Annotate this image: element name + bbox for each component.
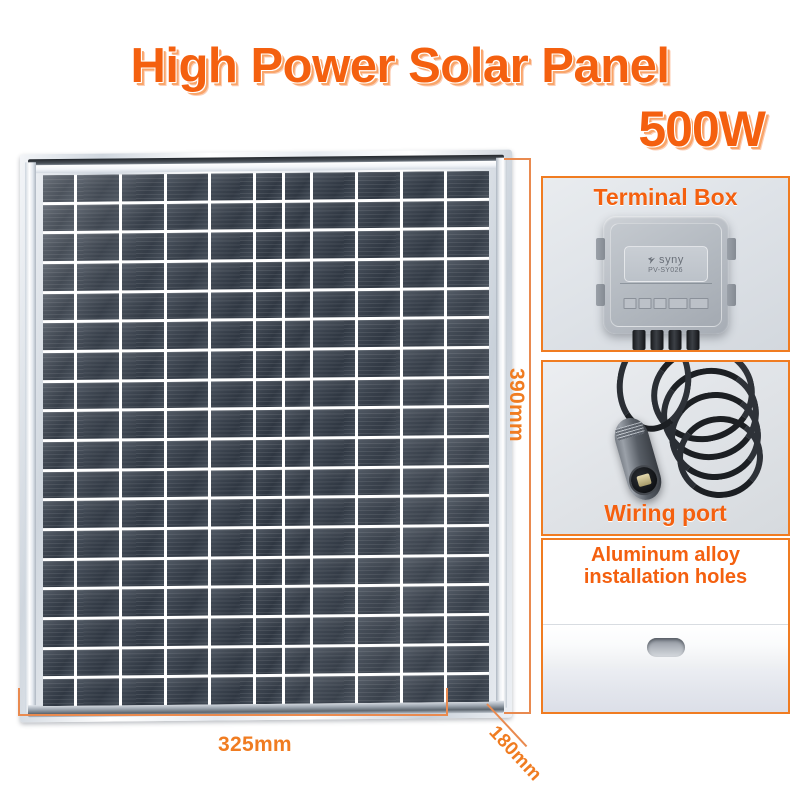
solar-cell bbox=[211, 410, 253, 437]
solar-cell bbox=[43, 382, 74, 409]
solar-cell bbox=[77, 619, 119, 646]
solar-cell bbox=[256, 677, 282, 704]
solar-cell bbox=[403, 290, 445, 317]
dim-height-label: 390mm bbox=[504, 368, 528, 442]
solar-cell bbox=[403, 201, 445, 228]
solar-cell bbox=[43, 471, 74, 498]
detail-card-wiring-port: Wiring port bbox=[541, 360, 790, 536]
solar-cell bbox=[167, 530, 209, 557]
wiring-port-title: Wiring port bbox=[543, 500, 788, 527]
solar-cell bbox=[211, 618, 253, 645]
cert-recycle-icon bbox=[623, 298, 636, 309]
solar-cell bbox=[167, 441, 209, 468]
solar-cell bbox=[358, 379, 400, 406]
solar-cell bbox=[358, 261, 400, 288]
solar-cell bbox=[43, 175, 74, 202]
solar-panel-image bbox=[14, 148, 519, 728]
solar-cell bbox=[403, 320, 445, 347]
dim-width-tick-right bbox=[446, 688, 448, 715]
mount-tab-left-top bbox=[596, 238, 605, 260]
solar-cell bbox=[403, 676, 445, 703]
solar-cell bbox=[285, 232, 311, 259]
solar-cell bbox=[167, 589, 209, 616]
alloy-title-line1: Aluminum alloy bbox=[543, 545, 788, 567]
solar-cell bbox=[447, 290, 489, 317]
solar-cell bbox=[122, 322, 164, 349]
solar-cell bbox=[358, 290, 400, 317]
solar-cell bbox=[358, 617, 400, 644]
solar-cell bbox=[167, 559, 209, 586]
solar-cell bbox=[313, 172, 355, 199]
solar-cell bbox=[447, 616, 489, 643]
solar-cell bbox=[43, 264, 74, 291]
solar-cell bbox=[122, 263, 164, 290]
solar-cell bbox=[77, 263, 119, 290]
solar-cell bbox=[211, 292, 253, 319]
dim-height-tick-top bbox=[504, 158, 530, 160]
solar-cell bbox=[447, 527, 489, 554]
solar-cell bbox=[43, 560, 74, 587]
solar-cell bbox=[358, 350, 400, 377]
solar-cell bbox=[122, 471, 164, 498]
solar-cell bbox=[77, 530, 119, 557]
solar-cell bbox=[122, 589, 164, 616]
solar-cell bbox=[285, 321, 311, 348]
solar-cell bbox=[167, 678, 209, 705]
dim-width-bracket-bottom bbox=[18, 714, 448, 716]
certification-marks bbox=[623, 298, 708, 309]
terminal-box-body: syny PV-SY026 bbox=[603, 216, 729, 334]
solar-cell bbox=[77, 412, 119, 439]
solar-cell bbox=[447, 408, 489, 435]
mount-tab-right-top bbox=[727, 238, 736, 260]
solar-cell bbox=[122, 678, 164, 705]
solar-cell bbox=[403, 557, 445, 584]
solar-cell bbox=[403, 646, 445, 673]
solar-cell bbox=[211, 470, 253, 497]
solar-cell bbox=[77, 293, 119, 320]
solar-cell bbox=[313, 350, 355, 377]
mount-tab-right-bottom bbox=[727, 284, 736, 306]
solar-cell bbox=[43, 679, 74, 706]
solar-cell bbox=[256, 618, 282, 645]
solar-cell bbox=[403, 409, 445, 436]
panel-aluminum-frame bbox=[20, 150, 512, 723]
solar-cell bbox=[256, 173, 282, 200]
solar-cell bbox=[285, 291, 311, 318]
solar-cell bbox=[447, 379, 489, 406]
solar-cell bbox=[403, 231, 445, 258]
solar-cell bbox=[167, 322, 209, 349]
solar-cell bbox=[447, 438, 489, 465]
solar-cell bbox=[313, 676, 355, 703]
solar-cell bbox=[313, 528, 355, 555]
mount-tab-left-bottom bbox=[596, 284, 605, 306]
solar-cell bbox=[43, 204, 74, 231]
solar-cell bbox=[285, 410, 311, 437]
solar-cell bbox=[211, 588, 253, 615]
solar-cell bbox=[358, 172, 400, 199]
solar-cell bbox=[43, 620, 74, 647]
connector-pin bbox=[636, 473, 652, 487]
solar-cell bbox=[122, 352, 164, 379]
solar-cell bbox=[77, 441, 119, 468]
syny-logo-icon bbox=[647, 256, 656, 265]
solar-cell bbox=[447, 201, 489, 228]
solar-cell bbox=[77, 352, 119, 379]
solar-cell bbox=[43, 234, 74, 261]
solar-cell bbox=[313, 202, 355, 229]
detail-card-aluminum-alloy: Aluminum alloy installation holes bbox=[541, 538, 790, 714]
solar-cell bbox=[256, 470, 282, 497]
cert-warning-icon bbox=[638, 298, 651, 309]
solar-cell bbox=[447, 468, 489, 495]
cable-stub bbox=[632, 330, 645, 350]
dim-height-bracket-right bbox=[529, 158, 531, 714]
solar-cell bbox=[447, 260, 489, 287]
solar-cell bbox=[167, 381, 209, 408]
solar-cell bbox=[256, 351, 282, 378]
solar-cell bbox=[256, 499, 282, 526]
solar-cell bbox=[77, 501, 119, 528]
solar-cell bbox=[256, 410, 282, 437]
solar-cell bbox=[256, 588, 282, 615]
solar-cell bbox=[211, 648, 253, 675]
solar-cell bbox=[167, 174, 209, 201]
brand-row: syny bbox=[647, 254, 684, 266]
solar-cell bbox=[313, 617, 355, 644]
solar-cell bbox=[358, 498, 400, 525]
terminal-box-brand: syny bbox=[659, 254, 684, 266]
solar-cell bbox=[358, 201, 400, 228]
solar-cell bbox=[358, 528, 400, 555]
terminal-box-model: PV-SY026 bbox=[648, 267, 683, 274]
solar-cell bbox=[77, 679, 119, 706]
solar-cell bbox=[77, 649, 119, 676]
solar-cell bbox=[256, 648, 282, 675]
cable-stub bbox=[668, 330, 681, 350]
solar-cell bbox=[358, 439, 400, 466]
solar-cell bbox=[403, 616, 445, 643]
solar-cell bbox=[285, 558, 311, 585]
solar-cell bbox=[122, 411, 164, 438]
solar-cell bbox=[77, 382, 119, 409]
alloy-title-line2: installation holes bbox=[543, 567, 788, 589]
solar-cell bbox=[447, 497, 489, 524]
solar-cell bbox=[285, 351, 311, 378]
solar-cell bbox=[43, 412, 74, 439]
solar-cell bbox=[43, 531, 74, 558]
dim-width-tick-left bbox=[18, 688, 20, 715]
solar-cell bbox=[447, 319, 489, 346]
solar-cell bbox=[285, 440, 311, 467]
solar-cell bbox=[167, 500, 209, 527]
solar-cell bbox=[122, 382, 164, 409]
solar-cell bbox=[43, 353, 74, 380]
connector-knurling bbox=[615, 421, 645, 440]
solar-cell bbox=[122, 174, 164, 201]
solar-cell bbox=[313, 291, 355, 318]
solar-cell bbox=[77, 471, 119, 498]
solar-cell bbox=[285, 469, 311, 496]
solar-cell bbox=[403, 349, 445, 376]
solar-cell bbox=[122, 233, 164, 260]
solar-cell bbox=[447, 646, 489, 673]
solar-cell bbox=[313, 647, 355, 674]
solar-cell bbox=[167, 411, 209, 438]
solar-cell bbox=[43, 590, 74, 617]
dim-width-label: 325mm bbox=[218, 733, 292, 757]
solar-cell bbox=[211, 262, 253, 289]
cert-voltage-icon bbox=[689, 298, 708, 309]
solar-cell bbox=[313, 587, 355, 614]
solar-cell bbox=[122, 649, 164, 676]
solar-cell bbox=[403, 260, 445, 287]
solar-cell bbox=[211, 203, 253, 230]
solar-cell bbox=[447, 557, 489, 584]
solar-cell bbox=[211, 381, 253, 408]
solar-cell bbox=[403, 587, 445, 614]
wattage-badge: 500W bbox=[638, 100, 765, 158]
solar-cell bbox=[211, 499, 253, 526]
solar-cell bbox=[403, 527, 445, 554]
solar-cell bbox=[43, 501, 74, 528]
solar-cell bbox=[167, 648, 209, 675]
solar-cell bbox=[167, 619, 209, 646]
terminal-box-lid: syny PV-SY026 bbox=[610, 223, 722, 327]
solar-cell bbox=[447, 586, 489, 613]
solar-cell bbox=[285, 677, 311, 704]
solar-cell bbox=[313, 558, 355, 585]
solar-cell bbox=[313, 261, 355, 288]
installation-hole bbox=[647, 638, 685, 657]
connector-face bbox=[626, 462, 663, 499]
cert-manual-icon bbox=[653, 298, 666, 309]
solar-cell bbox=[256, 321, 282, 348]
solar-cell bbox=[447, 230, 489, 257]
solar-cell bbox=[285, 173, 311, 200]
solar-cell bbox=[285, 618, 311, 645]
solar-cell bbox=[403, 468, 445, 495]
solar-cell bbox=[358, 468, 400, 495]
solar-cell bbox=[211, 351, 253, 378]
solar-cell bbox=[358, 646, 400, 673]
solar-cell bbox=[285, 202, 311, 229]
terminal-box-title: Terminal Box bbox=[543, 178, 788, 211]
solar-cell bbox=[285, 499, 311, 526]
solar-cell bbox=[77, 234, 119, 261]
solar-cell bbox=[256, 292, 282, 319]
solar-cell bbox=[358, 231, 400, 258]
solar-cell bbox=[211, 440, 253, 467]
solar-cell bbox=[167, 263, 209, 290]
solar-cell bbox=[285, 262, 311, 289]
solar-cell bbox=[447, 675, 489, 702]
terminal-box-cable-stubs bbox=[632, 330, 699, 350]
solar-cell bbox=[77, 204, 119, 231]
solar-cell bbox=[77, 590, 119, 617]
solar-cell bbox=[122, 560, 164, 587]
solar-cell bbox=[447, 171, 489, 198]
cable-stub bbox=[686, 330, 699, 350]
solar-cell bbox=[122, 293, 164, 320]
solar-cell bbox=[358, 587, 400, 614]
aluminum-alloy-title: Aluminum alloy installation holes bbox=[543, 540, 788, 588]
solar-cell bbox=[211, 559, 253, 586]
solar-cell bbox=[43, 293, 74, 320]
solar-cell bbox=[167, 233, 209, 260]
solar-cell bbox=[167, 352, 209, 379]
solar-cell bbox=[256, 381, 282, 408]
solar-cell bbox=[358, 409, 400, 436]
solar-cell bbox=[77, 174, 119, 201]
frame-left-edge bbox=[25, 162, 36, 712]
solar-cell bbox=[256, 232, 282, 259]
solar-cell bbox=[43, 323, 74, 350]
solar-cell bbox=[313, 439, 355, 466]
solar-cell bbox=[122, 530, 164, 557]
dim-height-tick-bottom bbox=[504, 712, 530, 714]
terminal-box-label: syny PV-SY026 bbox=[624, 246, 708, 282]
solar-cell bbox=[313, 231, 355, 258]
solar-cell bbox=[167, 292, 209, 319]
detail-card-terminal-box: Terminal Box syny PV-SY026 bbox=[541, 176, 790, 352]
solar-cell bbox=[211, 677, 253, 704]
cert-rating-icon bbox=[668, 298, 687, 309]
solar-cell bbox=[403, 171, 445, 198]
photovoltaic-cell-array bbox=[43, 171, 489, 706]
solar-cell bbox=[256, 203, 282, 230]
solar-cell bbox=[43, 442, 74, 469]
solar-cell bbox=[313, 380, 355, 407]
solar-cell bbox=[285, 380, 311, 407]
solar-cell bbox=[313, 409, 355, 436]
solar-cell bbox=[122, 441, 164, 468]
solar-cell bbox=[403, 379, 445, 406]
solar-cell bbox=[447, 349, 489, 376]
solar-cell bbox=[77, 560, 119, 587]
solar-cell bbox=[403, 438, 445, 465]
solar-cell bbox=[358, 557, 400, 584]
solar-cell bbox=[122, 500, 164, 527]
solar-cell bbox=[313, 498, 355, 525]
solar-cell bbox=[313, 320, 355, 347]
solar-cell bbox=[77, 323, 119, 350]
page-title: High Power Solar Panel bbox=[0, 38, 800, 94]
solar-cell bbox=[358, 676, 400, 703]
solar-cell bbox=[256, 262, 282, 289]
cable-stub bbox=[650, 330, 663, 350]
solar-cell bbox=[167, 470, 209, 497]
panel-back-surface bbox=[543, 668, 788, 712]
terminal-box-seam bbox=[620, 283, 712, 284]
solar-cell bbox=[256, 529, 282, 556]
solar-cell bbox=[358, 320, 400, 347]
solar-cell bbox=[256, 559, 282, 586]
cell-grid bbox=[43, 171, 489, 706]
solar-cell bbox=[122, 619, 164, 646]
solar-cell bbox=[211, 232, 253, 259]
solar-cell bbox=[256, 440, 282, 467]
solar-cell bbox=[43, 649, 74, 676]
solar-cell bbox=[403, 498, 445, 525]
solar-cell bbox=[285, 647, 311, 674]
solar-cell bbox=[211, 529, 253, 556]
solar-cell bbox=[211, 173, 253, 200]
solar-cell bbox=[122, 204, 164, 231]
solar-cell bbox=[167, 203, 209, 230]
solar-cell bbox=[285, 588, 311, 615]
solar-cell bbox=[211, 321, 253, 348]
solar-cell bbox=[285, 529, 311, 556]
solar-cell bbox=[313, 469, 355, 496]
